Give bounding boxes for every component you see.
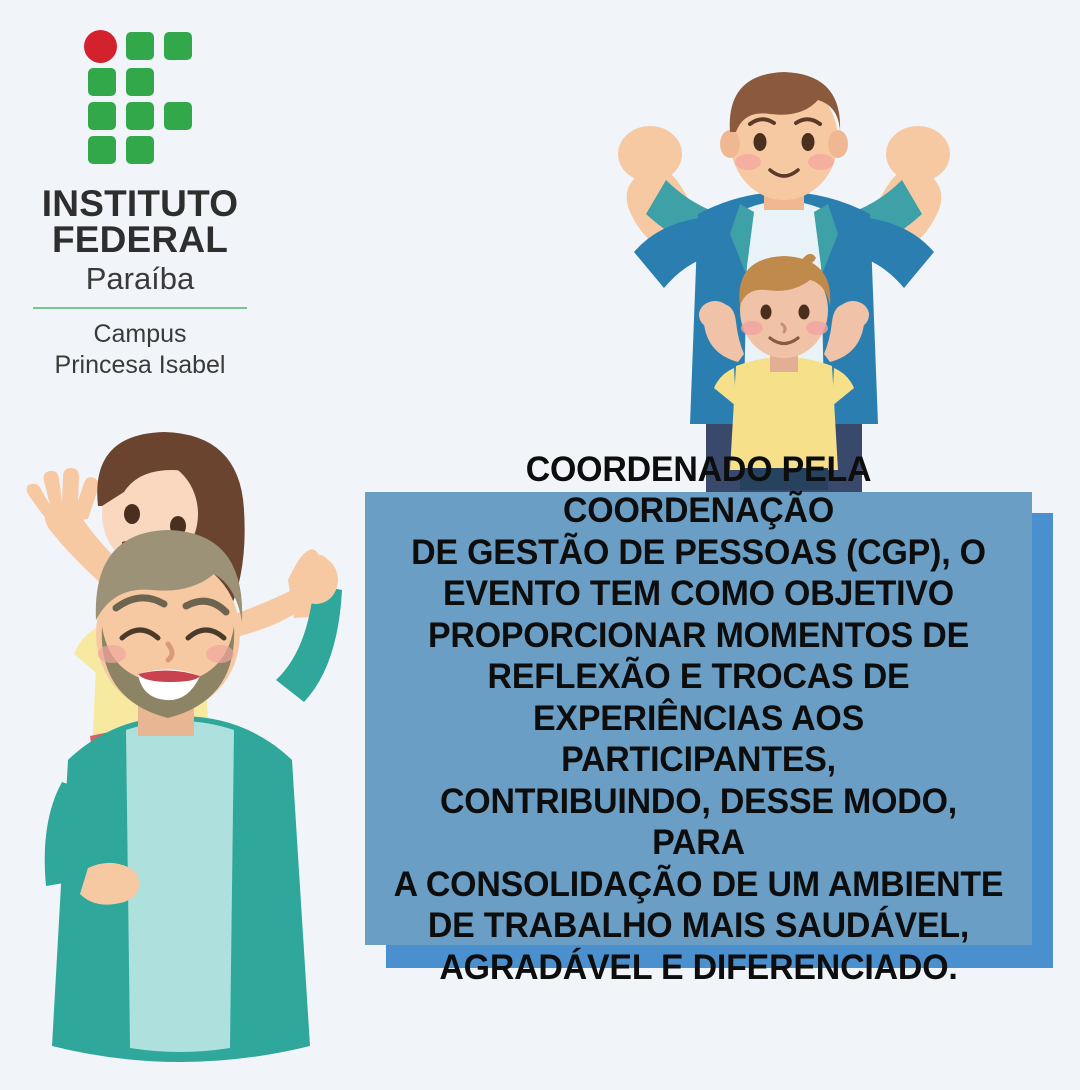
logo-divider: [33, 307, 247, 309]
event-description-text: COORDENADO PELA COORDENAÇÃO DE GESTÃO DE…: [380, 449, 1017, 989]
logo-dot-red: [84, 30, 117, 63]
instituto-federal-grid-logo-icon: [84, 30, 196, 170]
logo-campus-line1: Campus: [0, 319, 280, 350]
logo-cell: [126, 32, 154, 60]
logo-cell: [126, 102, 154, 130]
logo-cell: [88, 102, 116, 130]
father-and-son-flexing-illustration: [588, 62, 980, 492]
father-carrying-daughter-illustration: [0, 430, 364, 1090]
logo-line-paraiba: Paraíba: [0, 261, 280, 298]
logo-line-instituto: INSTITUTO: [0, 186, 280, 222]
logo-cell: [88, 136, 116, 164]
logo-campus-line2: Princesa Isabel: [0, 350, 280, 381]
logo-cell: [164, 102, 192, 130]
poster-canvas: INSTITUTO FEDERAL Paraíba Campus Princes…: [0, 0, 1080, 1080]
logo-campus-block: Campus Princesa Isabel: [0, 319, 280, 381]
logo-cell: [126, 68, 154, 96]
logo-wordmark: INSTITUTO FEDERAL Paraíba: [0, 186, 280, 297]
ifpb-logo-block: INSTITUTO FEDERAL Paraíba Campus Princes…: [0, 30, 280, 381]
logo-cell: [126, 136, 154, 164]
logo-cell: [164, 32, 192, 60]
logo-cell: [88, 68, 116, 96]
text-card: COORDENADO PELA COORDENAÇÃO DE GESTÃO DE…: [365, 492, 1032, 945]
logo-line-federal: FEDERAL: [0, 222, 280, 258]
